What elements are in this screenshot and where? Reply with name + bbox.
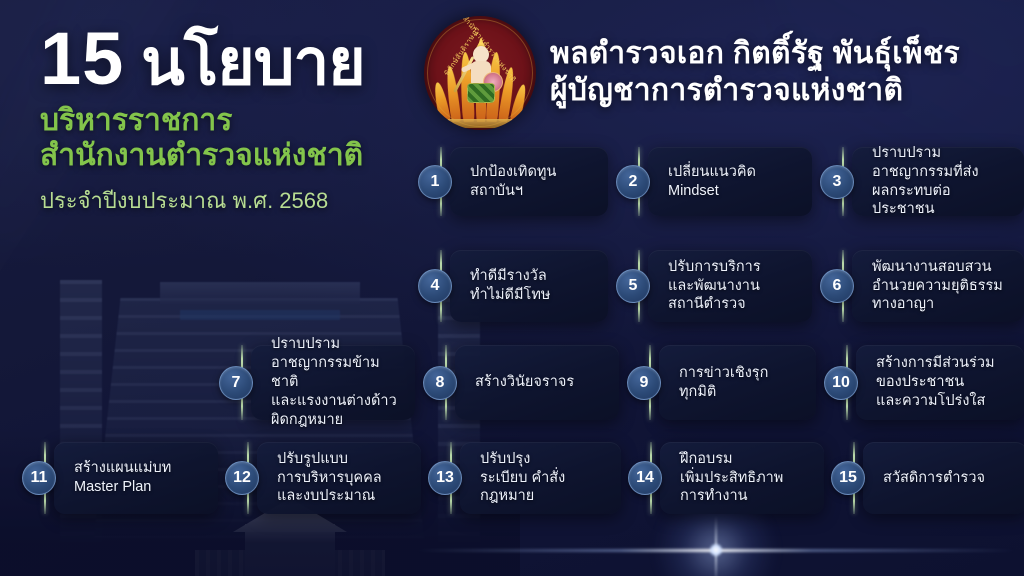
- policy-row-1: 1 ปกป้องเทิดทูน สถาบันฯ 2 เปลี่ยนแนวคิด …: [418, 147, 1024, 216]
- policy-item-4[interactable]: 4 ทำดีมีรางวัล ทำไม่ดีมีโทษ: [418, 250, 608, 322]
- infographic-canvas: 15 นโยบาย บริหารราชการ สำนักงานตำรวจแห่ง…: [0, 0, 1024, 576]
- policy-text: การข่าวเชิงรุก ทุกมิติ: [679, 364, 768, 402]
- policy-text: สร้างวินัยจราจร: [475, 373, 574, 392]
- policy-item-12[interactable]: 12 ปรับรูปแบบ การบริหารบุคคล และงบประมาณ: [225, 442, 421, 514]
- policy-grid: 1 ปกป้องเทิดทูน สถาบันฯ 2 เปลี่ยนแนวคิด …: [0, 0, 1024, 576]
- policy-card[interactable]: สร้างแผนแม่บท Master Plan: [54, 442, 218, 514]
- policy-item-5[interactable]: 5 ปรับการบริการ และพัฒนางาน สถานีตำรวจ: [616, 250, 812, 322]
- policy-number-badge: 7: [219, 366, 253, 400]
- policy-card[interactable]: ปรับรูปแบบ การบริหารบุคคล และงบประมาณ: [257, 442, 421, 514]
- policy-number-badge: 6: [820, 269, 854, 303]
- policy-card[interactable]: ทำดีมีรางวัล ทำไม่ดีมีโทษ: [450, 250, 608, 322]
- policy-card[interactable]: ฝึกอบรม เพิ่มประสิทธิภาพ การทำงาน: [660, 442, 824, 514]
- policy-text: ปราบปราม อาชญากรรมที่ส่ง ผลกระทบต่อประชา…: [872, 144, 1012, 219]
- policy-number-badge: 3: [820, 165, 854, 199]
- policy-row-2: 4 ทำดีมีรางวัล ทำไม่ดีมีโทษ 5 ปรับการบริ…: [418, 250, 1024, 322]
- policy-text: ฝึกอบรม เพิ่มประสิทธิภาพ การทำงาน: [680, 450, 783, 507]
- policy-row-3: 7 ปราบปราม อาชญากรรมข้ามชาติ และแรงงานต่…: [219, 345, 1024, 420]
- policy-card[interactable]: พัฒนางานสอบสวน อำนวยความยุติธรรม ทางอาญา: [852, 250, 1024, 322]
- policy-text: เปลี่ยนแนวคิด Mindset: [668, 163, 756, 201]
- policy-card[interactable]: ปราบปราม อาชญากรรมที่ส่ง ผลกระทบต่อประชา…: [852, 147, 1024, 216]
- policy-card[interactable]: ปราบปราม อาชญากรรมข้ามชาติ และแรงงานต่าง…: [251, 345, 415, 420]
- policy-item-9[interactable]: 9 การข่าวเชิงรุก ทุกมิติ: [627, 345, 816, 420]
- policy-text: ทำดีมีรางวัล ทำไม่ดีมีโทษ: [470, 267, 550, 305]
- policy-number-badge: 8: [423, 366, 457, 400]
- policy-text: สร้างแผนแม่บท Master Plan: [74, 459, 171, 497]
- policy-number-badge: 5: [616, 269, 650, 303]
- policy-text: สวัสดิการตำรวจ: [883, 469, 985, 488]
- policy-item-15[interactable]: 15 สวัสดิการตำรวจ: [831, 442, 1024, 514]
- policy-number-badge: 1: [418, 165, 452, 199]
- policy-item-2[interactable]: 2 เปลี่ยนแนวคิด Mindset: [616, 147, 812, 216]
- policy-text: พัฒนางานสอบสวน อำนวยความยุติธรรม ทางอาญา: [872, 258, 1003, 315]
- policy-card[interactable]: สวัสดิการตำรวจ: [863, 442, 1024, 514]
- policy-card[interactable]: สร้างวินัยจราจร: [455, 345, 619, 420]
- policy-card[interactable]: ปรับปรุง ระเบียบ คำสั่ง กฎหมาย: [460, 442, 621, 514]
- policy-number-badge: 2: [616, 165, 650, 199]
- policy-text: สร้างการมีส่วนร่วม ของประชาชน และความโปร…: [876, 354, 995, 411]
- policy-item-13[interactable]: 13 ปรับปรุง ระเบียบ คำสั่ง กฎหมาย: [428, 442, 621, 514]
- policy-number-badge: 10: [824, 366, 858, 400]
- policy-number-badge: 11: [22, 461, 56, 495]
- policy-text: ปรับการบริการ และพัฒนางาน สถานีตำรวจ: [668, 258, 761, 315]
- policy-item-8[interactable]: 8 สร้างวินัยจราจร: [423, 345, 619, 420]
- policy-card[interactable]: สร้างการมีส่วนร่วม ของประชาชน และความโปร…: [856, 345, 1024, 420]
- policy-card[interactable]: เปลี่ยนแนวคิด Mindset: [648, 147, 812, 216]
- policy-card[interactable]: การข่าวเชิงรุก ทุกมิติ: [659, 345, 816, 420]
- policy-item-3[interactable]: 3 ปราบปราม อาชญากรรมที่ส่ง ผลกระทบต่อประ…: [820, 147, 1024, 216]
- policy-number-badge: 12: [225, 461, 259, 495]
- policy-text: ปราบปราม อาชญากรรมข้ามชาติ และแรงงานต่าง…: [271, 335, 403, 429]
- policy-row-4: 11 สร้างแผนแม่บท Master Plan 12 ปรับรูปแ…: [22, 442, 1024, 514]
- policy-number-badge: 9: [627, 366, 661, 400]
- policy-text: ปรับรูปแบบ การบริหารบุคคล และงบประมาณ: [277, 450, 382, 507]
- policy-card[interactable]: ปรับการบริการ และพัฒนางาน สถานีตำรวจ: [648, 250, 812, 322]
- policy-number-badge: 13: [428, 461, 462, 495]
- policy-card[interactable]: ปกป้องเทิดทูน สถาบันฯ: [450, 147, 608, 216]
- policy-item-11[interactable]: 11 สร้างแผนแม่บท Master Plan: [22, 442, 218, 514]
- policy-number-badge: 14: [628, 461, 662, 495]
- policy-number-badge: 4: [418, 269, 452, 303]
- policy-item-14[interactable]: 14 ฝึกอบรม เพิ่มประสิทธิภาพ การทำงาน: [628, 442, 824, 514]
- policy-item-10[interactable]: 10 สร้างการมีส่วนร่วม ของประชาชน และความ…: [824, 345, 1024, 420]
- policy-item-7[interactable]: 7 ปราบปราม อาชญากรรมข้ามชาติ และแรงงานต่…: [219, 345, 415, 420]
- policy-item-1[interactable]: 1 ปกป้องเทิดทูน สถาบันฯ: [418, 147, 608, 216]
- policy-item-6[interactable]: 6 พัฒนางานสอบสวน อำนวยความยุติธรรม ทางอา…: [820, 250, 1024, 322]
- policy-text: ปกป้องเทิดทูน สถาบันฯ: [470, 163, 556, 201]
- policy-text: ปรับปรุง ระเบียบ คำสั่ง กฎหมาย: [480, 450, 565, 507]
- policy-number-badge: 15: [831, 461, 865, 495]
